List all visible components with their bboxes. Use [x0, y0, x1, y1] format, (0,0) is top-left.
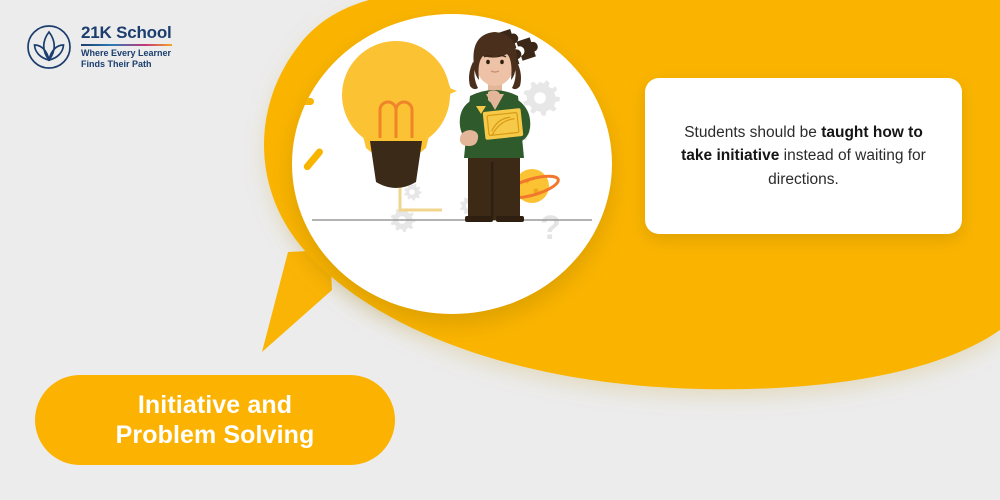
logo-text-block: 21K School Where Every Learner Finds The…: [81, 24, 172, 70]
lightbulb-icon: [342, 41, 450, 188]
quote-before: Students should be: [684, 124, 821, 141]
logo-tagline-line2: Finds Their Path: [81, 59, 172, 70]
illustration-artwork: ?: [292, 14, 612, 314]
quote-after: instead of waiting for directions.: [768, 147, 926, 188]
thinking-woman-figure: [460, 32, 531, 222]
brand-logo[interactable]: 21K School Where Every Learner Finds The…: [26, 24, 172, 70]
illustration-disc: ?: [292, 14, 612, 314]
topic-badge[interactable]: Initiative and Problem Solving: [35, 375, 395, 465]
logo-gradient-rule: [81, 44, 172, 46]
lotus-circle-logo-icon: [26, 24, 72, 70]
quote-card: Students should be taught how to take in…: [645, 78, 962, 234]
topic-badge-line1: Initiative and: [138, 390, 292, 421]
topic-badge-line2: Problem Solving: [116, 420, 315, 451]
question-mark-icon: ?: [540, 209, 561, 247]
quote-text: Students should be taught how to take in…: [671, 121, 936, 192]
logo-tagline-line1: Where Every Learner: [81, 48, 172, 59]
logo-title: 21K School: [81, 24, 172, 42]
poster-canvas: ?: [0, 0, 1000, 500]
